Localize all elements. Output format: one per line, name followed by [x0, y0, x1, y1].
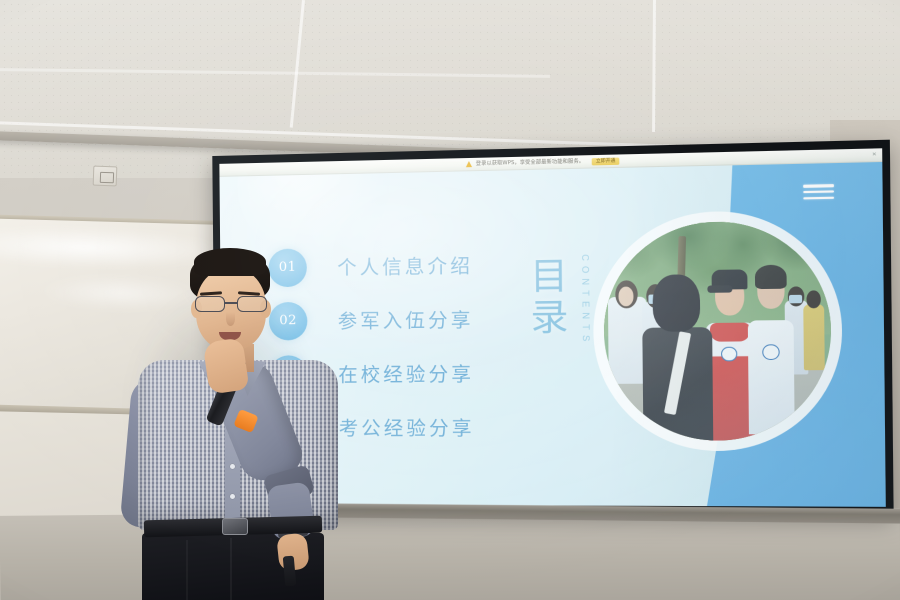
- campus-photo: [603, 220, 832, 441]
- toc-title-en: CONTENTS: [580, 254, 591, 346]
- lens-right: [237, 296, 267, 312]
- warning-triangle-icon: [465, 161, 472, 167]
- hamburger-bar: [803, 184, 834, 187]
- presenter-nose: [226, 312, 235, 326]
- toc-item-label: 考公经验分享: [339, 413, 475, 441]
- notification-action-button[interactable]: 立即开通: [592, 157, 620, 165]
- shirt-button: [230, 494, 235, 499]
- trouser-seam: [230, 538, 232, 600]
- presenter: [118, 252, 348, 600]
- photo-projector-haze: [603, 220, 832, 441]
- notification-text: 登录以获取WPS，享受全部最新功能和服务。: [476, 158, 584, 167]
- glasses-bridge: [225, 302, 237, 304]
- trouser-pleat: [186, 540, 188, 600]
- hamburger-bar: [803, 190, 834, 193]
- lens-left: [195, 296, 225, 312]
- eyeglasses-icon: [193, 296, 271, 312]
- classroom-presentation-scene: 目录 CONTENTS 01 个人信息介绍 02 参军入伍分享 03 在校经验分…: [0, 0, 900, 600]
- toc-item-label: 参军入伍分享: [338, 305, 474, 334]
- shirt-button: [230, 464, 235, 469]
- belt-buckle: [222, 518, 248, 535]
- wall-outlet: [93, 166, 118, 187]
- close-icon[interactable]: ✕: [872, 151, 877, 158]
- toc-item-label: 在校经验分享: [338, 359, 474, 387]
- toc-title-cn: 目录: [524, 256, 575, 339]
- presenter-mic-hand: [203, 337, 250, 394]
- hamburger-menu-icon: [803, 184, 834, 199]
- presenter-hair-top: [194, 248, 266, 276]
- toc-item-label: 个人信息介绍: [337, 251, 473, 280]
